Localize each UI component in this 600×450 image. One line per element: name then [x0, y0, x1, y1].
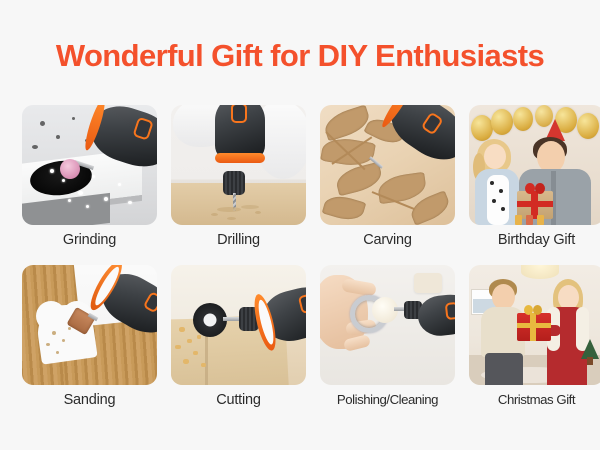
polishing-image — [320, 265, 455, 385]
caption-drilling: Drilling — [171, 232, 306, 248]
caption-polishing: Polishing/Cleaning — [320, 392, 455, 407]
birthday-gift-image — [469, 105, 600, 225]
rotary-tool — [413, 280, 455, 350]
feature-cell-cutting[interactable]: Cutting — [171, 265, 306, 408]
carving-image — [320, 105, 455, 225]
feature-cell-drilling[interactable]: Drilling — [171, 105, 306, 248]
feature-grid: Grinding — [22, 105, 578, 408]
christmas-gift-image — [469, 265, 600, 385]
caption-grinding: Grinding — [22, 232, 157, 248]
feature-cell-birthday-gift[interactable]: Birthday Gift — [469, 105, 600, 248]
grinding-image — [22, 105, 157, 225]
caption-christmas-gift: Christmas Gift — [469, 392, 600, 407]
sanding-image — [22, 265, 157, 385]
promo-banner: Wonderful Gift for DIY Enthusiasts — [0, 0, 600, 450]
drilling-image — [171, 105, 306, 225]
feature-cell-carving[interactable]: Carving — [320, 105, 455, 248]
feature-cell-grinding[interactable]: Grinding — [22, 105, 157, 248]
caption-sanding: Sanding — [22, 392, 157, 408]
page-title: Wonderful Gift for DIY Enthusiasts — [0, 38, 600, 74]
feature-cell-polishing[interactable]: Polishing/Cleaning — [320, 265, 455, 408]
caption-cutting: Cutting — [171, 392, 306, 408]
cutting-image — [171, 265, 306, 385]
cutting-disc — [193, 303, 227, 337]
rotary-tool — [209, 105, 271, 173]
feature-cell-sanding[interactable]: Sanding — [22, 265, 157, 408]
feature-cell-christmas-gift[interactable]: Christmas Gift — [469, 265, 600, 408]
caption-birthday-gift: Birthday Gift — [469, 232, 600, 248]
caption-carving: Carving — [320, 232, 455, 248]
